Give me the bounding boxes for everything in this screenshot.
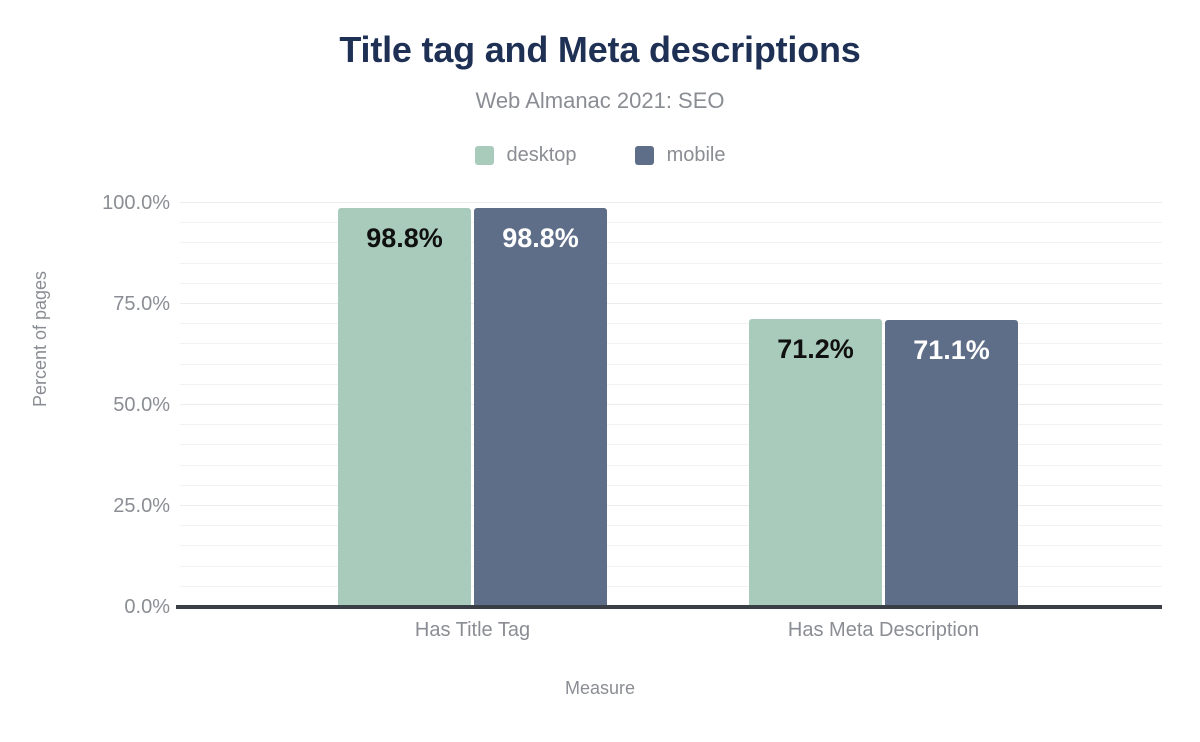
bar-chart: Title tag and Meta descriptions Web Alma…: [0, 0, 1200, 742]
gridline-minor: [180, 283, 1162, 284]
bar-desktop-2[interactable]: 71.2%: [749, 319, 882, 607]
gridline-minor: [180, 263, 1162, 264]
x-axis-title: Measure: [0, 679, 1200, 697]
chart-title: Title tag and Meta descriptions: [0, 30, 1200, 70]
bar-mobile-2[interactable]: 71.1%: [885, 320, 1018, 607]
gridline-major: [180, 202, 1162, 203]
bar-value-label: 98.8%: [502, 225, 579, 252]
bar-desktop-1[interactable]: 98.8%: [338, 208, 471, 607]
x-tick-label: Has Title Tag: [273, 620, 673, 640]
y-axis-tick-labels: 0.0%25.0%50.0%75.0%100.0%: [60, 203, 170, 607]
bar-value-label: 71.2%: [777, 336, 854, 363]
legend-label: mobile: [667, 145, 726, 165]
chart-legend: desktopmobile: [0, 142, 1200, 168]
gridline-minor: [180, 222, 1162, 223]
gridline-major: [180, 303, 1162, 304]
plot-area: 98.8%98.8%71.2%71.1%: [190, 203, 1162, 607]
x-tick-label: Has Meta Description: [684, 620, 1084, 640]
x-axis-baseline: [176, 605, 1162, 609]
bar-value-label: 71.1%: [913, 337, 990, 364]
legend-label: desktop: [507, 145, 577, 165]
legend-swatch-mobile: [635, 146, 654, 165]
gridline-minor: [180, 242, 1162, 243]
y-axis-title: Percent of pages: [31, 239, 49, 439]
bar-mobile-1[interactable]: 98.8%: [474, 208, 607, 607]
chart-subtitle: Web Almanac 2021: SEO: [0, 89, 1200, 113]
legend-entry-desktop[interactable]: desktop: [475, 145, 577, 165]
y-tick-label: 25.0%: [70, 496, 170, 516]
y-tick-label: 75.0%: [70, 294, 170, 314]
legend-entry-mobile[interactable]: mobile: [635, 145, 726, 165]
y-tick-label: 50.0%: [70, 395, 170, 415]
bar-value-label: 98.8%: [366, 225, 443, 252]
y-tick-label: 0.0%: [70, 597, 170, 617]
legend-swatch-desktop: [475, 146, 494, 165]
y-tick-label: 100.0%: [70, 193, 170, 213]
